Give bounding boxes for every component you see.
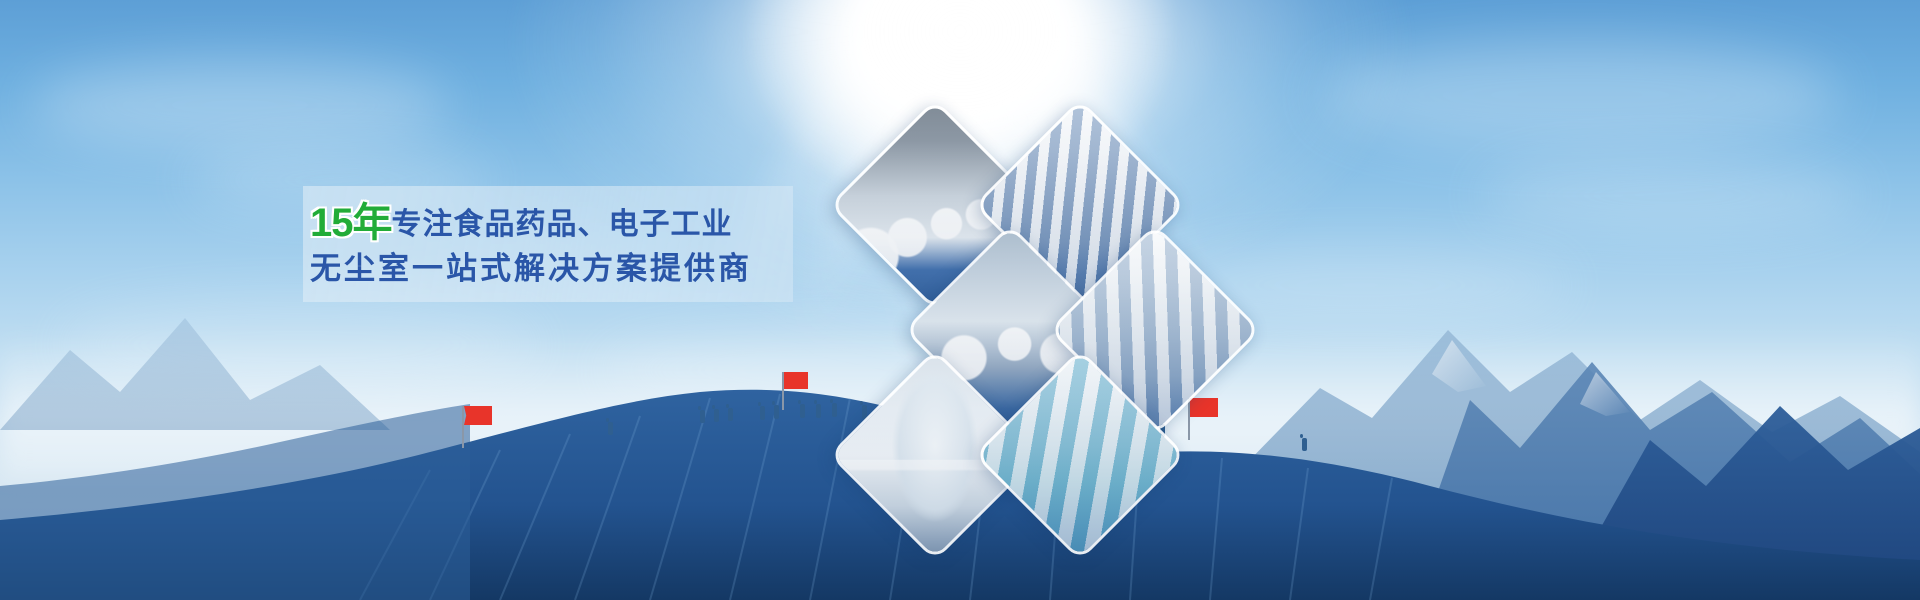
- headline-line-2-text: 无尘室一站式解决方案提供商: [310, 251, 752, 286]
- headline-line-1-text: 专注食品药品、电子工业: [392, 208, 733, 241]
- headline-line-1: 15年专注食品药品、电子工业: [310, 202, 810, 244]
- years-highlight: 15年: [310, 201, 392, 245]
- photo-montage: [840, 95, 1280, 495]
- headline-block: 15年专注食品药品、电子工业 无尘室一站式解决方案提供商: [310, 202, 810, 290]
- hero-banner: 15年专注食品药品、电子工业 无尘室一站式解决方案提供商: [0, 0, 1920, 600]
- headline-line-2: 无尘室一站式解决方案提供商: [310, 248, 810, 290]
